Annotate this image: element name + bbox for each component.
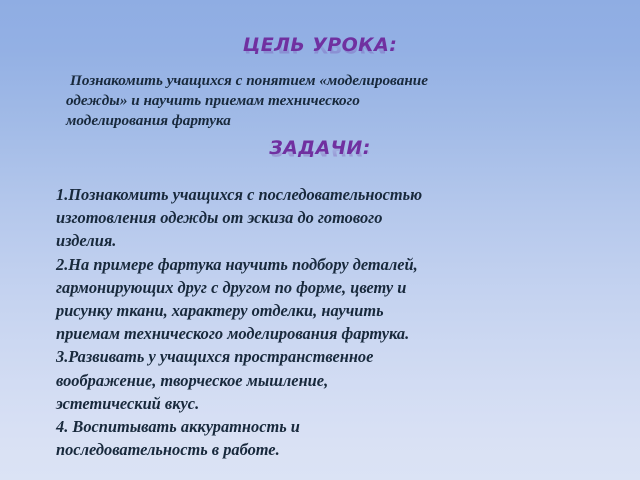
goal-heading: ЦЕЛЬ УРОКА: xyxy=(243,36,397,55)
goal-paragraph-line: Познакомить учащихся с понятием «моделир… xyxy=(66,71,586,91)
task-item: 4. Воспитывать аккуратность и последоват… xyxy=(56,415,596,461)
task-item: 1.Познакомить учащихся с последовательно… xyxy=(56,183,596,253)
goal-paragraph-line: одежды» и научить приемам технического xyxy=(66,91,586,111)
task-line: изделия. xyxy=(56,229,596,252)
task-line: 1.Познакомить учащихся с последовательно… xyxy=(56,183,596,206)
goal-heading-block: ЦЕЛЬ УРОКА: ЦЕЛЬ УРОКА: xyxy=(0,36,640,74)
task-line: эстетический вкус. xyxy=(56,392,596,415)
task-line: 2.На примере фартука научить подбору дет… xyxy=(56,253,596,276)
task-item: 2.На примере фартука научить подбору дет… xyxy=(56,253,596,346)
tasks-heading: ЗАДАЧИ: xyxy=(269,139,370,158)
task-line: воображение, творческое мышление, xyxy=(56,369,596,392)
task-line: последовательность в работе. xyxy=(56,438,596,461)
task-line: приемам технического моделирования фарту… xyxy=(56,322,596,345)
goal-paragraph-line: моделирования фартука xyxy=(66,111,586,131)
task-item: 3.Развивать у учащихся пространственное … xyxy=(56,345,596,415)
goal-paragraph: Познакомить учащихся с понятием «моделир… xyxy=(66,71,586,131)
tasks-list: 1.Познакомить учащихся с последовательно… xyxy=(56,183,596,461)
presentation-slide: ЦЕЛЬ УРОКА: ЦЕЛЬ УРОКА: Познакомить учащ… xyxy=(0,0,640,480)
task-line: 4. Воспитывать аккуратность и xyxy=(56,415,596,438)
task-line: изготовления одежды от эскиза до готовог… xyxy=(56,206,596,229)
task-line: гармонирующих друг с другом по форме, цв… xyxy=(56,276,596,299)
task-line: 3.Развивать у учащихся пространственное xyxy=(56,345,596,368)
task-line: рисунку ткани, характеру отделки, научит… xyxy=(56,299,596,322)
tasks-heading-block: ЗАДАЧИ: ЗАДАЧИ: xyxy=(0,139,640,177)
